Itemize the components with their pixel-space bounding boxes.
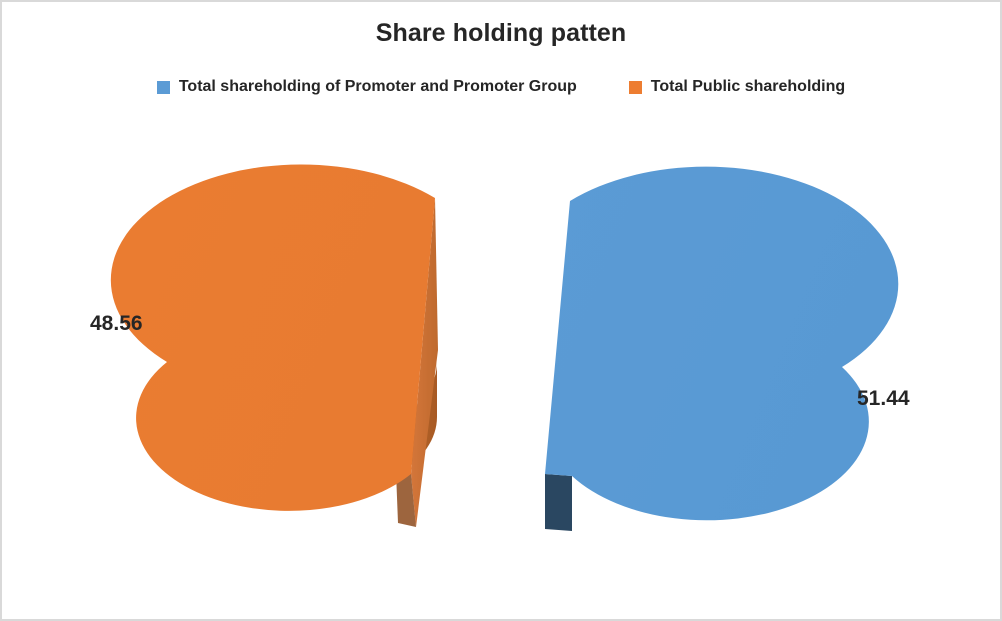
pie-slice-public[interactable] — [111, 164, 438, 527]
data-label-public: 48.56 — [90, 312, 143, 336]
pie-slice-promoter[interactable] — [545, 167, 898, 531]
chart-container: Share holding patten Total shareholding … — [0, 0, 1002, 621]
pie-3d-graphic — [2, 2, 1002, 621]
data-label-promoter: 51.44 — [857, 387, 910, 411]
